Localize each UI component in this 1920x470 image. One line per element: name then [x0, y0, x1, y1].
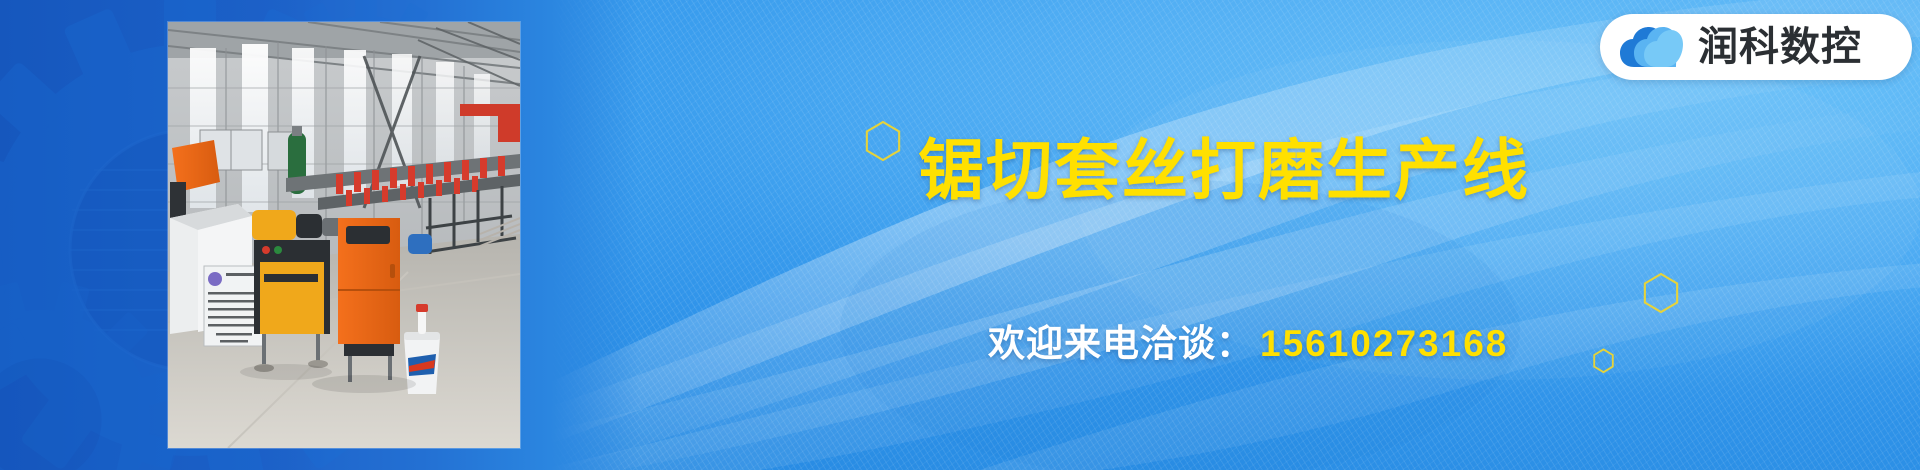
hexagon-outline-icon — [864, 120, 902, 162]
phone-number[interactable]: 15610273168 — [1260, 323, 1508, 364]
hexagon-outline-small-icon — [1592, 348, 1615, 374]
brand-name: 润科数控 — [1698, 25, 1862, 69]
contact-label: 欢迎来电洽谈： — [988, 323, 1254, 364]
product-photo — [168, 22, 520, 448]
hexagon-outline-icon — [1642, 272, 1680, 314]
contact-line: 欢迎来电洽谈：15610273168 — [988, 318, 1508, 370]
page-title: 锯切套丝打磨生产线 — [918, 134, 1530, 206]
brand-logo[interactable]: 润科数控 — [1600, 14, 1912, 80]
cloud-mark-icon — [1618, 25, 1684, 69]
promo-banner: 锯切套丝打磨生产线 欢迎来电洽谈：15610273168 润科数控 — [0, 0, 1920, 470]
